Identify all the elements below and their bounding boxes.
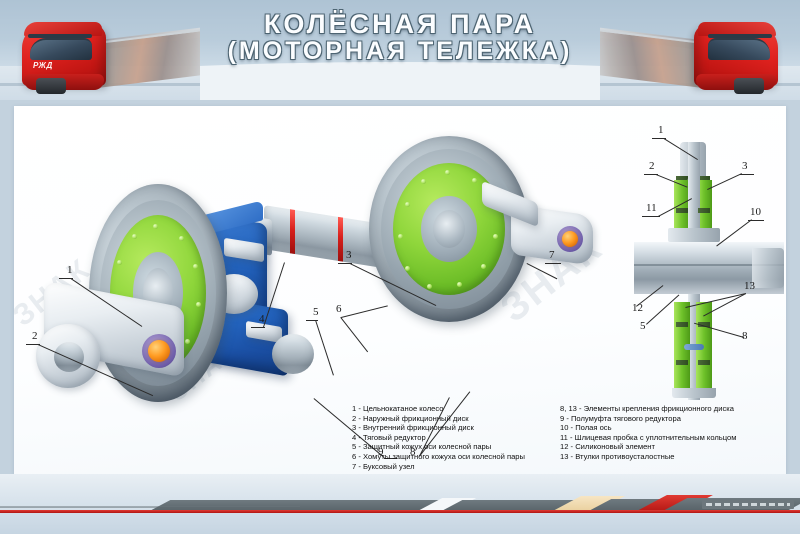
leader-tick-3: [338, 263, 352, 264]
xs-bushing-bottom-2-left: [676, 360, 688, 365]
legend-item: 13 - Втулки противоусталостные: [560, 452, 736, 462]
disc-bolt: [421, 179, 426, 184]
legend-item: 7 - Буксовый узел: [352, 462, 525, 472]
legend-item: 10 - Полая ось: [560, 423, 736, 433]
disc-bolt: [427, 284, 432, 289]
xs-callout-11: 11: [646, 202, 657, 214]
xs-callout-2: 2: [649, 160, 655, 172]
leader-tick-2: [26, 344, 40, 345]
footer-stripe-grey-thin: [0, 506, 300, 508]
disc-bolt: [179, 236, 184, 241]
leader-tick-4: [251, 327, 265, 328]
leader-tick-7: [545, 263, 561, 264]
disc-bolt: [405, 202, 410, 207]
legend-item: 5 - Защитный кожух оси колесной пары: [352, 442, 525, 452]
footer-credit-tag: [702, 500, 794, 509]
xs-bushing-top-left: [676, 208, 688, 213]
title-line-1: КОЛЁСНАЯ ПАРА: [0, 10, 800, 38]
disc-bolt: [117, 260, 122, 265]
legend-item: 11 - Шлицевая пробка с уплотнительным ко…: [560, 433, 736, 443]
casing-clamp-1: [290, 209, 295, 254]
disc-bolt: [481, 264, 486, 269]
xs-callout-13: 13: [744, 280, 755, 292]
legend-item: 9 - Полумуфта тягового редуктора: [560, 414, 736, 424]
callout-5: 5: [313, 306, 319, 318]
callout-1: 1: [67, 264, 73, 276]
xs-disc-cap-bottom: [672, 388, 716, 398]
disc-bolt: [153, 224, 158, 229]
xs-tick-11: [642, 216, 660, 217]
axle-box-left-cap: [148, 340, 170, 362]
xs-tick-2: [644, 174, 658, 175]
wheel-right: [369, 136, 529, 322]
legend-item: 8, 13 - Элементы крепления фрикционного …: [560, 404, 736, 414]
leader-line-7: [527, 263, 558, 279]
xs-tick-1: [652, 138, 666, 139]
disc-bolt: [193, 264, 198, 269]
legend-column-left: 1 - Цельнокатаное колесо 2 - Наружный фр…: [352, 404, 525, 471]
xs-flange-top: [668, 228, 720, 242]
disc-bolt: [185, 339, 190, 344]
train-coupler-left: [36, 78, 66, 94]
content-panel: ЗНАК ЗНАК ЗНАК: [14, 106, 786, 474]
title-line-2: (МОТОРНАЯ ТЕЛЕЖКА): [0, 38, 800, 64]
disc-bolt: [132, 234, 137, 239]
disc-bolt: [445, 170, 450, 175]
friction-disc-cross-section: 1 2 3 11 10 12 5 13 8: [634, 116, 786, 408]
leader-line-5: [315, 320, 334, 375]
disc-bolt: [472, 178, 477, 183]
leader-tick-1: [59, 278, 73, 279]
leader-line-6a: [340, 317, 368, 352]
xs-tick-3: [740, 174, 754, 175]
xs-callout-3: 3: [742, 160, 748, 172]
wheel-right-hub: [433, 210, 465, 248]
xs-axle-step: [752, 248, 784, 288]
disc-bolt: [398, 234, 403, 239]
leader-tick-5: [306, 320, 318, 321]
xs-bushing-bottom-2-right: [698, 360, 710, 365]
legend-item: 12 - Силиконовый элемент: [560, 442, 736, 452]
disc-bolt: [196, 302, 201, 307]
disc-bolt: [405, 266, 410, 271]
legend-item: 4 - Тяговый редуктор: [352, 433, 525, 443]
callout-7: 7: [549, 249, 555, 261]
poster-footer: [0, 474, 800, 534]
poster-root: РЖД КОЛЁСНАЯ ПАРА (МОТОРНАЯ ТЕЛЕЖКА) ЗНА…: [0, 0, 800, 534]
casing-clamp-2: [338, 217, 343, 262]
callout-2: 2: [32, 330, 38, 342]
poster-header: РЖД КОЛЁСНАЯ ПАРА (МОТОРНАЯ ТЕЛЕЖКА): [0, 0, 800, 100]
legend-item: 3 - Внутренний фрикционный диск: [352, 423, 525, 433]
legend: 1 - Цельнокатаное колесо 2 - Наружный фр…: [14, 404, 786, 474]
legend-item: 6 - Хомуты защитного кожуха оси колесной…: [352, 452, 525, 462]
xs-callout-12: 12: [632, 302, 643, 314]
footer-stripe-red-long: [0, 510, 800, 513]
xs-bushing-bottom-left: [676, 322, 688, 327]
callout-3: 3: [346, 249, 352, 261]
gearbox-half-coupling: [272, 334, 314, 374]
legend-item: 1 - Цельнокатаное колесо: [352, 404, 525, 414]
xs-callout-10: 10: [750, 206, 761, 218]
legend-column-right: 8, 13 - Элементы крепления фрикционного …: [560, 404, 736, 462]
disc-bolt: [493, 234, 498, 239]
legend-item: 2 - Наружный фрикционный диск: [352, 414, 525, 424]
xs-callout-1: 1: [658, 124, 664, 136]
xs-callout-5: 5: [640, 320, 646, 332]
xs-leader-3: [707, 173, 742, 190]
callout-4: 4: [259, 313, 265, 325]
disc-bolt: [457, 282, 462, 287]
xs-callout-8: 8: [742, 330, 748, 342]
train-coupler-right: [734, 78, 764, 94]
axle-box-right-cap: [562, 231, 578, 247]
xs-fastener-bottom: [684, 344, 704, 350]
xs-tick-10: [748, 220, 764, 221]
callout-6: 6: [336, 303, 342, 315]
poster-title: КОЛЁСНАЯ ПАРА (МОТОРНАЯ ТЕЛЕЖКА): [0, 10, 800, 64]
xs-bushing-top-right: [698, 208, 710, 213]
